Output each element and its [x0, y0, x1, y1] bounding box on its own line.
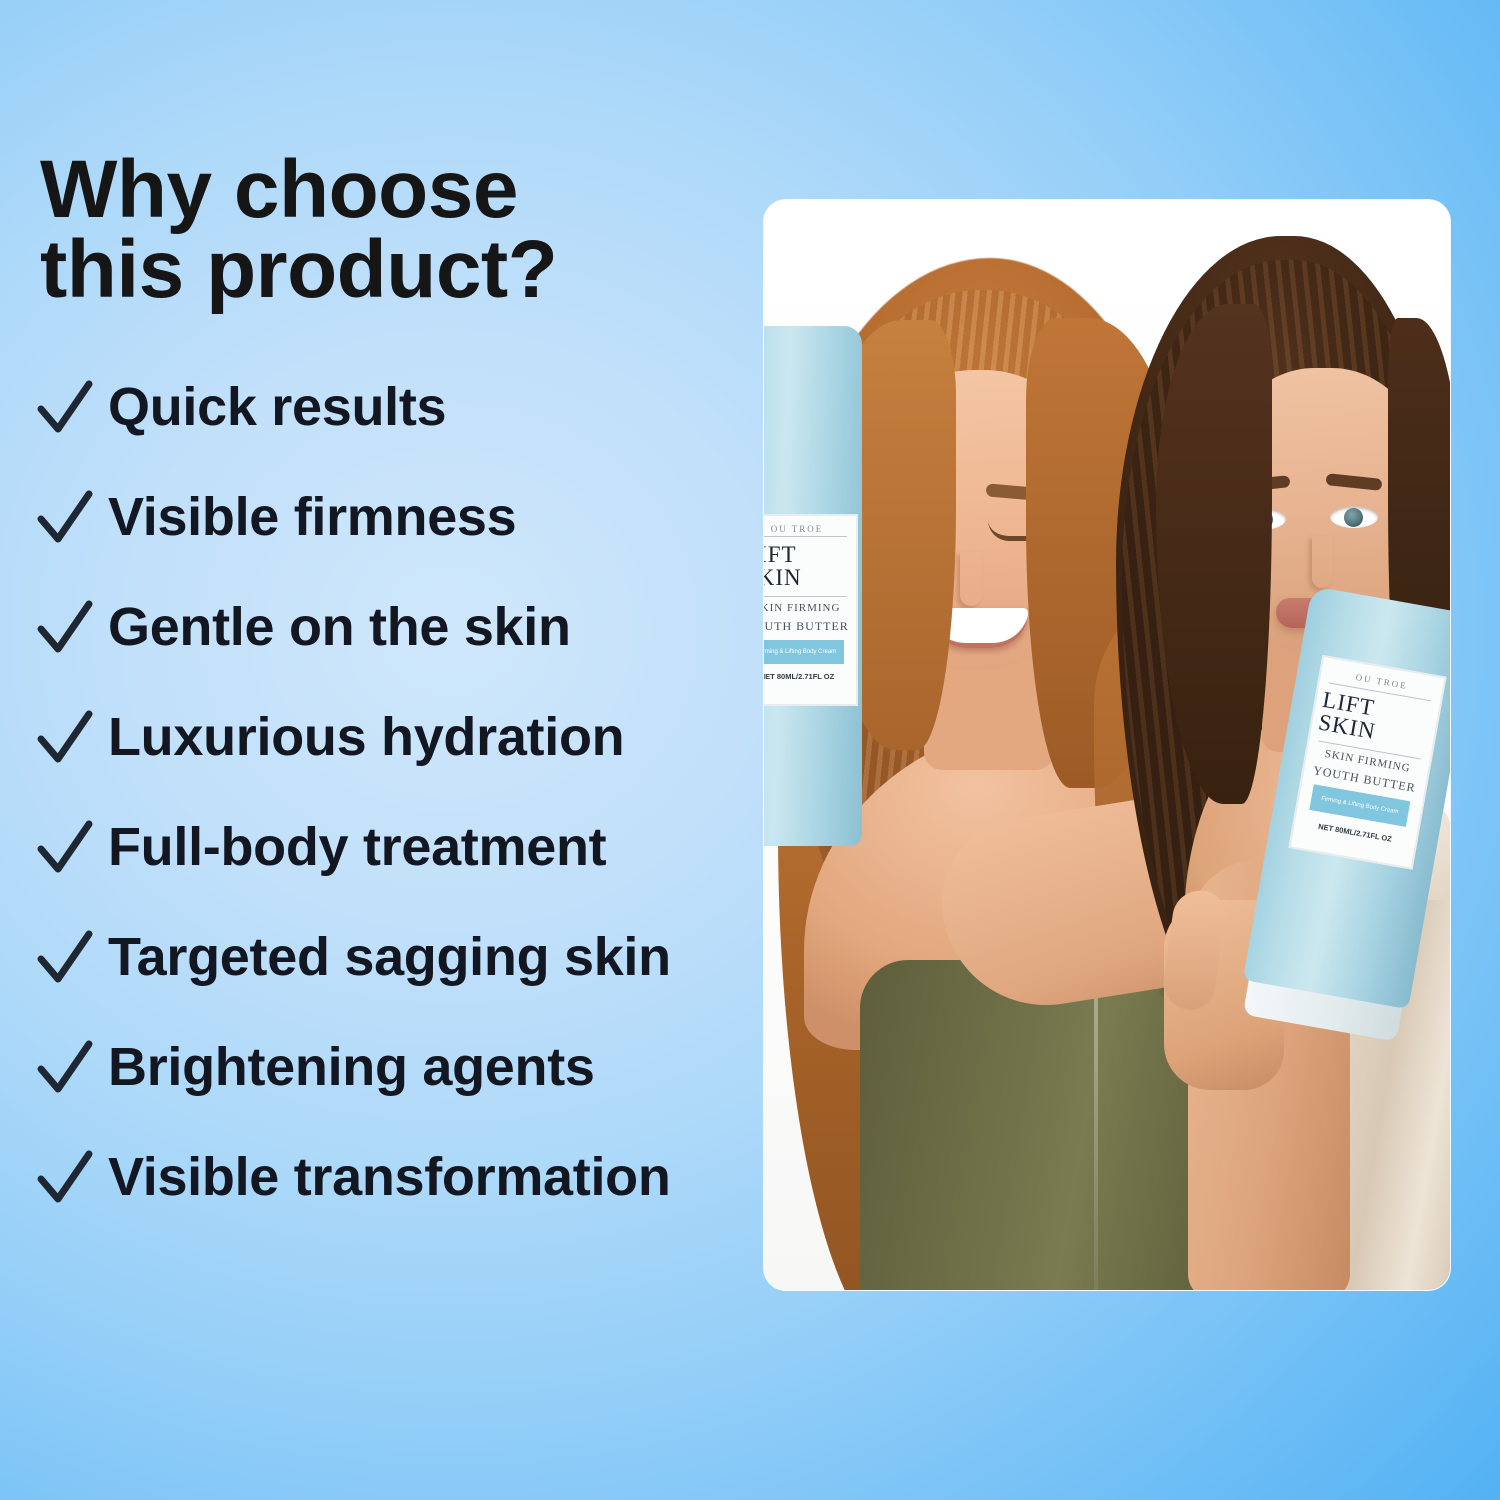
label-brand: OU TROE [771, 524, 824, 534]
benefit-label: Brightening agents [108, 1040, 595, 1094]
benefits-list: Quick results Visible firmness Gentle on… [36, 367, 776, 1216]
fabric-fold [1094, 970, 1098, 1290]
promo-poster: Why choose this product? Quick results V… [0, 0, 1500, 1500]
list-item: Full-body treatment [36, 807, 776, 886]
label-subtitle-1: SKIN FIRMING [764, 602, 840, 614]
check-icon [36, 376, 94, 438]
list-item: Gentle on the skin [36, 587, 776, 666]
benefit-label: Quick results [108, 380, 446, 434]
list-item: Luxurious hydration [36, 697, 776, 776]
list-item: Quick results [36, 367, 776, 446]
check-icon [36, 486, 94, 548]
check-icon [36, 1146, 94, 1208]
page-title: Why choose this product? [40, 150, 776, 309]
label-net-weight: NET 80ML/2.71FL OZ [764, 672, 834, 681]
nose [1312, 536, 1332, 588]
list-item: Visible firmness [36, 477, 776, 556]
label-subtitle-2: YOUTH BUTTER [764, 619, 849, 634]
check-icon [36, 926, 94, 988]
check-icon [36, 816, 94, 878]
label-divider [764, 596, 847, 597]
iris [1344, 508, 1363, 527]
label-product-name: LIFT SKIN [764, 543, 850, 589]
benefit-label: Luxurious hydration [108, 710, 624, 764]
benefit-label: Gentle on the skin [108, 600, 571, 654]
label-divider [764, 536, 847, 537]
check-icon [36, 706, 94, 768]
list-item: Targeted sagging skin [36, 917, 776, 996]
label-net-weight: NET 80ML/2.71FL OZ [1318, 822, 1393, 844]
label-claim-chip: Firming & Lifting Body Cream [764, 640, 844, 664]
check-icon [36, 1036, 94, 1098]
nose [960, 552, 982, 606]
product-tube-secondary: OU TROE LIFT SKIN SKIN FIRMING YOUTH BUT… [764, 326, 862, 846]
list-item: Brightening agents [36, 1027, 776, 1106]
list-item: Visible transformation [36, 1137, 776, 1216]
benefit-label: Visible transformation [108, 1150, 671, 1204]
benefit-label: Targeted sagging skin [108, 930, 671, 984]
benefit-label: Visible firmness [108, 490, 516, 544]
benefit-label: Full-body treatment [108, 820, 606, 874]
benefits-panel: Why choose this product? Quick results V… [36, 150, 776, 1390]
check-icon [36, 596, 94, 658]
product-photo-card: OU TROE LIFT SKIN SKIN FIRMING YOUTH BUT… [764, 200, 1450, 1290]
product-label: OU TROE LIFT SKIN SKIN FIRMING YOUTH BUT… [764, 514, 858, 706]
